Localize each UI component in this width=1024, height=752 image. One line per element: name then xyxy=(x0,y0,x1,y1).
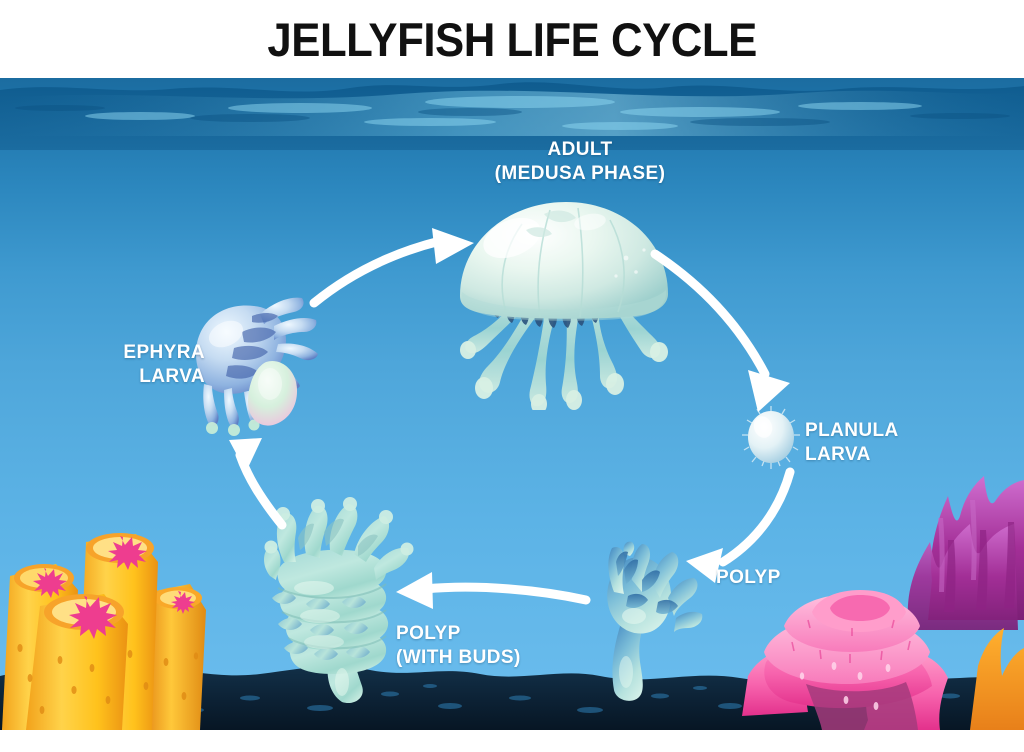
polyp xyxy=(580,540,710,705)
planula-larva xyxy=(740,405,802,473)
bottom-white-strip xyxy=(0,730,1024,747)
polyp-with-buds xyxy=(262,492,422,707)
water-surface xyxy=(0,78,1024,150)
coral-left xyxy=(0,528,240,730)
ephyra-larva xyxy=(182,292,332,447)
title-bar: JELLYFISH LIFE CYCLE xyxy=(0,0,1024,78)
jellyfish-life-cycle-poster: JELLYFISH LIFE CYCLE xyxy=(0,0,1024,747)
adult-jellyfish-medusa xyxy=(440,180,690,410)
page-title: JELLYFISH LIFE CYCLE xyxy=(267,12,756,67)
coral-right xyxy=(742,470,1024,730)
